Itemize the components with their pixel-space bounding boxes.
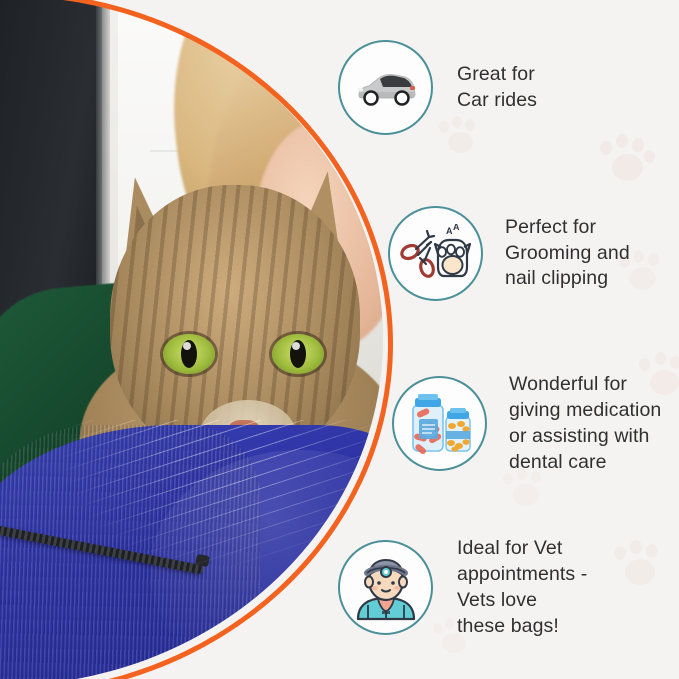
veterinarian-icon	[354, 555, 418, 621]
feature-icon-circle	[392, 376, 487, 471]
medicine-bottles-icon	[406, 393, 474, 455]
feature-item-grooming: A A Perfect for Grooming and nail clippi…	[388, 206, 630, 301]
infographic-canvas: Great for Car rides	[0, 0, 679, 679]
feature-text: Wonderful for giving medication or assis…	[509, 372, 661, 476]
feature-text: Perfect for Grooming and nail clipping	[505, 215, 630, 293]
feature-list: Great for Car rides	[330, 0, 679, 679]
svg-text:A: A	[446, 226, 453, 236]
feature-icon-circle	[338, 540, 433, 635]
cat-eye-right	[272, 334, 324, 374]
feature-text: Ideal for Vet appointments - Vets love t…	[457, 536, 587, 640]
feature-item-car-rides: Great for Car rides	[338, 40, 537, 135]
feature-item-medication: Wonderful for giving medication or assis…	[392, 372, 661, 476]
feature-icon-circle: A A	[388, 206, 483, 301]
cat-eye-glint-right	[292, 342, 300, 350]
feature-text: Great for Car rides	[457, 62, 537, 114]
car-icon	[353, 68, 419, 108]
nail-clippers-paw-icon: A A	[400, 224, 472, 284]
cat-eye-left	[163, 334, 215, 374]
feature-item-vet: Ideal for Vet appointments - Vets love t…	[338, 536, 587, 640]
feature-icon-circle	[338, 40, 433, 135]
svg-text:A: A	[453, 224, 460, 232]
cat-eye-glint-left	[183, 342, 191, 350]
